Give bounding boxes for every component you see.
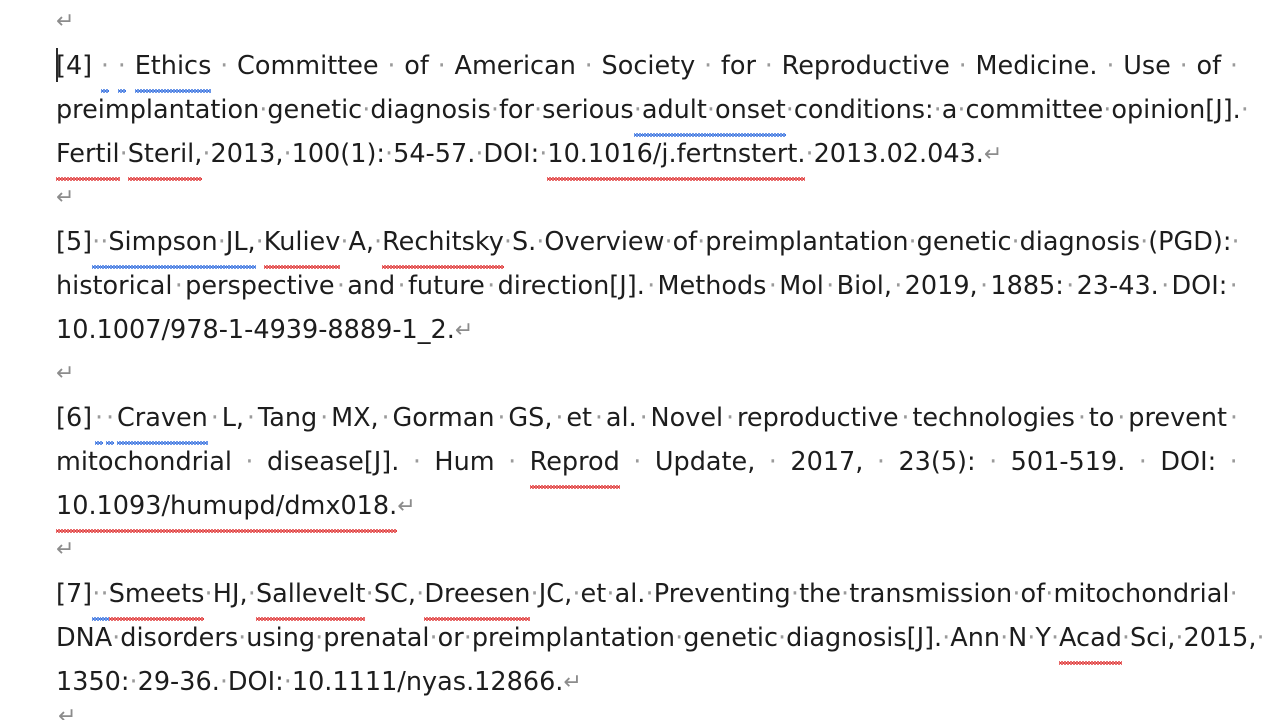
reference-word: Society [602,44,696,88]
space-mark-icon: · [640,396,648,440]
reference-word: preimplantation [705,220,908,264]
reference-word: diagnosis[J]. [786,616,942,660]
reference-word: GS, [508,403,552,433]
space-mark-icon: · [101,44,109,88]
reference-word: L, [222,403,244,433]
space-mark-icon: · [1106,44,1114,88]
reference-word: a [942,88,958,132]
reference-word: 2015, [1184,623,1257,653]
reference-word: Overview [544,227,664,257]
reference-word: 2017, [790,440,863,484]
reference-word: adult [642,88,707,132]
reference-line[interactable]: 1350:·29-36.·DOI:·10.1111/nyas.12866.↵ [56,660,1238,704]
space-mark-icon: · [942,616,950,660]
reference-word: transmission [849,579,1012,609]
reference-word: Y [1035,616,1051,660]
space-mark-icon: · [130,667,138,697]
reference-word: for [499,95,534,125]
space-mark-icon: · [1066,264,1074,308]
reference-word: DNA [56,616,112,660]
reference-word: using [246,616,315,660]
space-mark-icon: · [1140,220,1148,264]
paragraph-mark-icon: ↵ [56,0,74,44]
space-mark-icon: · [555,396,563,440]
reference-word: JC, [539,579,572,609]
reference-word: 10.1093/humupd/dmx018. [56,484,397,528]
space-mark-icon: · [786,88,794,132]
paragraph-mark-icon: ↵ [58,706,76,720]
space-mark-icon: · [315,616,323,660]
space-mark-icon: · [646,572,654,616]
reference-word: Overview [544,220,664,264]
space-mark-icon: · [320,396,328,440]
reference-word: 1885: [990,264,1064,308]
space-mark-icon: · [340,220,348,264]
reference-word: 501-519. [1011,447,1126,477]
reference-word: for [721,44,756,88]
reference-word: [5] [56,227,92,257]
space-mark-icon: · [675,616,683,660]
space-mark-icon: · [901,396,909,440]
reference-word: disorders [120,616,238,660]
reference-word: Simpson [108,220,217,264]
reference-word: genetic [917,220,1012,264]
reference-word: et [566,396,592,440]
reference-text-run: 10.1093/humupd/dmx018.↵ [56,484,416,530]
space-mark-icon: · [707,88,715,132]
empty-paragraph[interactable]: ↵ [56,176,1238,220]
reference-word: disease[J]. [267,447,399,477]
reference-word: Hum [434,447,494,477]
reference-word: perspective [185,271,334,301]
space-mark-icon: · [1230,396,1238,440]
reference-line[interactable]: [5]··Simpson·JL,·Kuliev·A,·Rechitsky·S.·… [56,220,1238,264]
reference-line[interactable]: mitochondrial·disease[J].·Hum·Reprod·Upd… [56,440,1238,484]
reference-word: to [1089,403,1115,433]
reference-word: 23-43. [1077,264,1159,308]
reference-word: or [438,616,464,660]
space-mark-icon: · [1103,88,1111,132]
reference-word: 23(5): [898,447,975,477]
space-mark-icon: · [1000,616,1008,660]
space-mark-icon: · [959,44,967,88]
space-mark-icon: · [534,88,542,132]
reference-word: DOI: [1171,271,1227,301]
reference-word: Tang [258,396,317,440]
space-mark-icon: · [934,88,942,132]
reference-word: Reproductive [782,51,950,81]
reference-word: of [404,51,429,81]
reference-word: (PGD): [1148,220,1231,264]
reference-word: S. [512,227,536,257]
reference-word: Use [1123,44,1171,88]
reference-word: Dreesen [424,572,530,616]
reference-word: onset [715,88,786,132]
reference-word: mitochondrial [56,440,232,484]
reference-word: Committee [237,51,379,81]
reference-word: S. [512,220,536,264]
reference-word: [7] [56,579,92,609]
space-mark-icon: · [769,264,777,308]
document-page[interactable]: ↵[4]··Ethics·Committee·of·American·Socie… [0,0,1280,720]
reference-word: 54-57. [393,139,475,169]
reference-word: genetic [683,623,778,653]
reference-word: preimplantation [56,88,259,132]
reference-word: Mol [779,264,824,308]
reference-word: 10.1016/j.fertnstert. [547,132,805,176]
reference-word: Medicine. [976,44,1098,88]
reference-word: HJ, [213,579,248,609]
space-mark-icon: · [606,572,614,616]
reference-word: of [673,220,698,264]
reference-word: [6] [56,396,92,440]
reference-word: JL, [226,220,256,264]
reference-word: Rechitsky [382,220,504,264]
reference-word: 1350: [56,667,130,697]
empty-paragraph[interactable]: ↵ [56,528,1238,572]
reference-paragraph[interactable]: [5]··Simpson·JL,·Kuliev·A,·Rechitsky·S.·… [56,220,1238,352]
reference-word: direction[J]. [498,271,645,301]
reference-word: A, [348,220,374,264]
space-mark-icon: · [118,44,126,88]
space-mark-icon: · [894,264,902,308]
reference-word: of [1021,572,1046,616]
reference-word: al. [615,572,646,616]
space-mark-icon: · [1045,572,1053,616]
space-mark-icon: · [337,264,345,308]
reference-word: transmission [849,572,1012,616]
reference-word: DOI: [1171,264,1227,308]
paragraph-mark-icon: ↵ [397,485,415,529]
reference-word: Preventing [654,579,791,609]
reference-word: et [581,579,607,609]
space-mark-icon: · [826,264,834,308]
space-mark-icon: · [238,616,246,660]
reference-word: Committee [237,44,379,88]
reference-word: Smeets [109,572,205,616]
reference-word: Gorman [393,396,495,440]
reference-word: Acad [1059,616,1122,660]
space-mark-icon: · [769,440,777,484]
space-mark-icon: · [791,572,799,616]
reference-word: of [1197,44,1222,88]
space-mark-icon: · [634,88,642,132]
reference-word: serious [542,95,634,125]
reference-word: DOI: [1160,440,1216,484]
reference-word: [4] [56,51,92,81]
reference-word: [5] [56,220,92,264]
reference-word: Novel [651,396,724,440]
space-mark-icon: · [1180,44,1188,88]
reference-word: direction[J]. [498,264,645,308]
reference-word: Kuliev [264,220,341,264]
space-mark-icon: · [1012,572,1020,616]
space-mark-icon: · [1051,616,1059,660]
reference-word: [7] [56,572,92,616]
reference-word: Medicine. [976,51,1098,81]
reference-text-run: 10.1007/978-1-4939-8889-1_2.↵ [56,308,473,354]
reference-word: mitochondrial [1054,579,1230,609]
reference-line[interactable]: preimplantation·genetic·diagnosis·for·se… [56,88,1238,132]
reference-word: future [408,264,485,308]
reference-word: prenatal [323,616,429,660]
reference-word: Use [1123,51,1171,81]
space-mark-icon: · [284,139,292,169]
reference-word: 100(1): [292,139,385,169]
space-mark-icon: · [374,220,382,264]
space-mark-icon: · [778,616,786,660]
space-mark-icon: · [704,44,712,88]
space-mark-icon: · [1175,616,1183,660]
paragraph-mark-icon: ↵ [984,133,1002,177]
space-mark-icon: · [572,572,580,616]
reference-word: JC, [539,572,572,616]
reference-word: for [499,88,534,132]
reference-word: Acad [1059,616,1122,660]
text-caret [56,48,58,82]
space-mark-icon: · [1078,396,1086,440]
reference-word: reproductive [737,396,899,440]
space-mark-icon: · [877,440,885,484]
space-mark-icon: · [385,139,393,169]
reference-word: 23-43. [1077,271,1159,301]
reference-word: American [455,51,576,81]
reference-word: technologies [912,403,1075,433]
reference-word: disease[J]. [267,440,399,484]
reference-word: 23(5): [898,440,975,484]
reference-word: Kuliev [264,220,341,264]
reference-word: Methods [658,264,767,308]
reference-line[interactable]: [7]··Smeets·HJ,·Sallevelt·SC,·Dreesen·JC… [56,572,1238,616]
reference-line[interactable]: [4]··Ethics·Committee·of·American·Societ… [56,44,1238,88]
reference-word: reproductive [737,403,899,433]
reference-word: Sci, [1130,616,1175,660]
space-mark-icon: · [248,572,256,616]
space-mark-icon: · [205,572,213,616]
reference-word: perspective [185,264,334,308]
reference-word: opinion[J]. [1111,88,1240,132]
reference-word: Smeets [109,572,205,616]
reference-word: A, [348,227,374,257]
space-mark-icon: · [92,220,100,264]
reference-paragraph[interactable]: [6]··Craven·L,·Tang·MX,·Gorman·GS,·et·al… [56,396,1238,528]
space-mark-icon: · [362,88,370,132]
reference-word: prenatal [323,623,429,653]
space-mark-icon: · [106,396,114,440]
paragraph-mark-icon: ↵ [56,352,74,396]
space-mark-icon: · [1241,88,1249,132]
reference-word: conditions: [794,95,934,125]
space-mark-icon: · [1230,44,1238,88]
reference-word: 10.1111/nyas.12866. [292,667,564,697]
reference-word: [4] [56,44,92,88]
reference-word: Craven [117,396,208,440]
reference-word: Tang [258,403,317,433]
reference-word: prevent [1128,403,1227,433]
reference-word: al. [606,396,637,440]
reference-word: Mol [779,271,824,301]
reference-line[interactable]: DNA·disorders·using·prenatal·or·preimpla… [56,616,1238,660]
space-mark-icon: · [220,667,228,697]
space-mark-icon: · [595,396,603,440]
reference-word: 2013, [210,139,283,169]
reference-word: of [1021,579,1046,609]
empty-paragraph[interactable]: ↵ [56,0,1238,44]
reference-text-run: 1350:·29-36.·DOI:·10.1111/nyas.12866.↵ [56,660,582,706]
document-body-column[interactable]: ↵[4]··Ethics·Committee·of·American·Socie… [56,0,1238,704]
reference-word: 2013.02.043. [814,139,984,169]
reference-word: (PGD): [1148,227,1231,257]
reference-word: Novel [651,403,724,433]
reference-word: or [438,623,464,653]
paragraph-mark-icon: ↵ [56,528,74,572]
space-mark-icon: · [909,220,917,264]
reference-paragraph[interactable]: [7]··Smeets·HJ,·Sallevelt·SC,·Dreesen·JC… [56,572,1238,704]
space-mark-icon: · [416,572,424,616]
space-mark-icon: · [464,616,472,660]
reference-word: N [1008,623,1027,653]
space-mark-icon: · [95,396,103,440]
reference-word: Sallevelt [256,572,366,616]
reference-word: preimplantation [705,227,908,257]
space-mark-icon: · [247,396,255,440]
reference-word: MX, [331,396,379,440]
reference-word: opinion[J]. [1111,95,1240,125]
reference-word: Ethics [135,44,212,88]
reference-word: al. [615,579,646,609]
reference-word: [6] [56,403,92,433]
space-mark-icon: · [1011,220,1019,264]
reference-word: preimplantation [56,95,259,125]
reference-line[interactable]: 10.1093/humupd/dmx018.↵ [56,484,1238,528]
reference-word: historical [56,264,172,308]
reference-word: and [347,271,395,301]
reference-word: Ann [950,623,1000,653]
space-mark-icon: · [508,440,516,484]
reference-word: DOI: [228,667,284,697]
space-mark-icon: · [647,264,655,308]
reference-word: Ethics [135,44,212,88]
space-mark-icon: · [430,616,438,660]
reference-word: SC, [374,579,416,609]
space-mark-icon: · [585,44,593,88]
space-mark-icon: · [438,44,446,88]
space-mark-icon: · [487,264,495,308]
reference-word: DNA [56,623,112,653]
reference-word: GS, [508,396,552,440]
reference-word: Reprod [530,440,620,484]
paragraph-mark-icon: ↵ [455,309,473,353]
reference-word: to [1089,396,1115,440]
reference-word: of [404,44,429,88]
reference-word: Update, [655,447,755,477]
reference-word: Y [1035,623,1051,653]
reference-word: al. [606,403,637,433]
reference-word: mitochondrial [56,447,232,477]
reference-word: genetic [917,227,1012,257]
reference-word: 2019, [905,264,978,308]
reference-paragraph[interactable]: [4]··Ethics·Committee·of·American·Societ… [56,44,1238,176]
reference-word: the [799,572,841,616]
reference-word: mitochondrial [1054,572,1230,616]
reference-word: diagnosis [1020,220,1141,264]
reference-word: DOI: [1160,447,1216,477]
reference-word: Sallevelt [256,572,366,616]
reference-word: 29-36. [138,667,220,697]
reference-word: Biol, [837,271,892,301]
space-mark-icon: · [536,220,544,264]
space-mark-icon: · [366,572,374,616]
space-mark-icon: · [100,220,108,264]
space-mark-icon: · [980,264,988,308]
reference-word: Dreesen [424,572,530,616]
space-mark-icon: · [1139,440,1147,484]
reference-word: preimplantation [472,623,675,653]
reference-word: diagnosis[J]. [786,623,942,653]
space-mark-icon: · [539,139,547,169]
reference-word: committee [965,95,1103,125]
space-mark-icon: · [531,572,539,616]
space-mark-icon: · [504,220,512,264]
reference-word: 2015, [1184,616,1257,660]
reference-word: JL, [226,220,256,264]
reference-word: American [455,44,576,88]
reference-word: 2019, [905,271,978,301]
space-mark-icon: · [218,220,226,264]
reference-word: Biol, [837,264,892,308]
reference-word: the [799,579,841,609]
reference-word: Steril, [128,132,203,176]
reference-word: for [721,51,756,81]
space-mark-icon: · [805,139,813,169]
space-mark-icon: · [841,572,849,616]
space-mark-icon: · [120,139,128,169]
empty-paragraph[interactable]: ↵ [56,352,1238,396]
reference-word: diagnosis [1020,227,1141,257]
reference-word: 10.1007/978-1-4939-8889-1_2. [56,315,455,345]
space-mark-icon: · [259,88,267,132]
reference-word: using [246,623,315,653]
space-mark-icon: · [491,88,499,132]
reference-line[interactable]: historical·perspective·and·future·direct… [56,264,1238,308]
reference-word: Update, [655,440,755,484]
reference-word: diagnosis [370,88,491,132]
space-mark-icon: · [1230,440,1238,484]
space-mark-icon: · [989,440,997,484]
space-mark-icon: · [1230,572,1238,616]
reference-word: diagnosis [370,95,491,125]
space-mark-icon: · [1230,264,1238,308]
space-mark-icon: · [1122,616,1130,660]
space-mark-icon: · [1117,396,1125,440]
reference-line[interactable]: Fertil·Steril,·2013,·100(1):·54-57.·DOI:… [56,132,1238,176]
reference-line[interactable]: [6]··Craven·L,·Tang·MX,·Gorman·GS,·et·al… [56,396,1238,440]
reference-word: Sci, [1130,623,1175,653]
reference-line[interactable]: 10.1007/978-1-4939-8889-1_2.↵ [56,308,1238,352]
reference-word: genetic [683,616,778,660]
reference-word: 1885: [990,271,1064,301]
reference-word: Reprod [530,440,620,484]
reference-word: Ann [950,616,1000,660]
reference-word: DOI: [483,139,539,169]
space-mark-icon: · [413,440,421,484]
reference-word: preimplantation [472,616,675,660]
reference-word: a [942,95,958,125]
reference-word: L, [222,396,244,440]
reference-word: 501-519. [1011,440,1126,484]
space-mark-icon: · [1161,264,1169,308]
reference-word: Gorman [393,403,495,433]
